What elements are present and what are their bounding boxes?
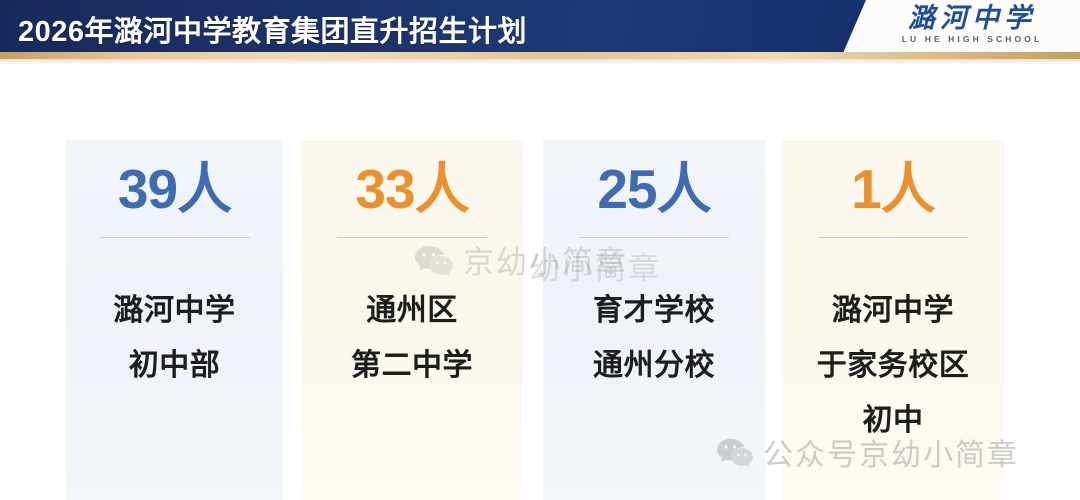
card-count: 1人 <box>782 158 1004 220</box>
card-divider <box>818 237 968 238</box>
plan-card: 33人 通州区 第二中学 <box>301 140 523 500</box>
logo-english-name: LU HE HIGH SCHOOL <box>882 34 1062 44</box>
card-line: 初中部 <box>66 338 283 393</box>
slide-root: 2026年潞河中学教育集团直升招生计划 潞河中学 LU HE HIGH SCHO… <box>0 0 1080 500</box>
card-count: 25人 <box>543 158 765 220</box>
card-divider <box>337 237 487 238</box>
plan-card: 25人 育才学校 通州分校 <box>543 140 765 500</box>
card-line: 潞河中学 <box>66 283 283 338</box>
header-bar: 2026年潞河中学教育集团直升招生计划 潞河中学 LU HE HIGH SCHO… <box>0 0 1080 59</box>
card-line: 育才学校 <box>543 283 765 338</box>
school-logo: 潞河中学 LU HE HIGH SCHOOL <box>882 3 1062 51</box>
card-divider <box>100 237 250 238</box>
card-line: 第二中学 <box>301 338 523 393</box>
page-title: 2026年潞河中学教育集团直升招生计划 <box>18 8 527 50</box>
card-line: 潞河中学 <box>782 283 1004 338</box>
card-school-name: 潞河中学 于家务校区 初中 <box>782 283 1004 448</box>
card-line: 通州分校 <box>543 338 765 393</box>
card-school-name: 育才学校 通州分校 <box>543 283 765 393</box>
gold-bar-shadow <box>0 59 1080 65</box>
card-school-name: 通州区 第二中学 <box>301 283 523 393</box>
card-line: 于家务校区 <box>782 338 1004 393</box>
card-line: 通州区 <box>301 283 523 338</box>
card-divider <box>579 237 729 238</box>
plan-card-list: 39人 潞河中学 初中部 33人 通州区 第二中学 25人 育才学校 通州分校 <box>0 140 1080 500</box>
card-school-name: 潞河中学 初中部 <box>66 283 283 393</box>
card-count: 39人 <box>66 158 283 220</box>
card-count: 33人 <box>301 158 523 220</box>
logo-chinese-name: 潞河中学 <box>882 3 1062 33</box>
card-line: 初中 <box>782 393 1004 448</box>
plan-card: 1人 潞河中学 于家务校区 初中 <box>782 140 1004 500</box>
gold-divider-bar <box>0 52 1080 59</box>
plan-card: 39人 潞河中学 初中部 <box>66 140 283 500</box>
